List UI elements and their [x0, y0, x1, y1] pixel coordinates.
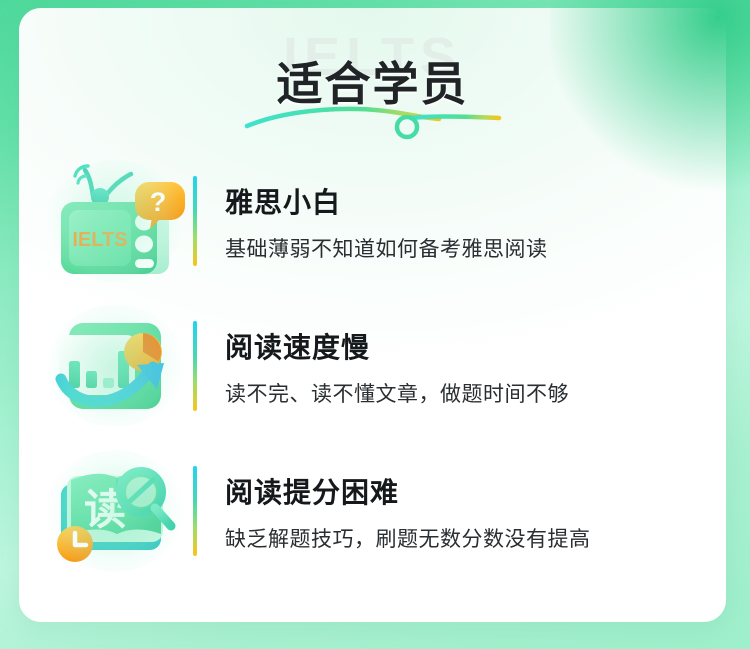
- swoosh-loop-underline-icon: [243, 104, 503, 148]
- row-divider: [193, 466, 197, 556]
- bar-chart-board-arrow-icon: [45, 305, 185, 427]
- list-item: IELTS ? 雅思小白 基础薄弱不知道如何备考雅思阅读: [19, 148, 726, 293]
- list-item-heading: 阅读提分困难: [225, 471, 726, 511]
- list-item-text: 阅读提分困难 缺乏解题技巧，刷题无数分数没有提高: [225, 469, 726, 553]
- list-item: 阅读速度慢 读不完、读不懂文章，做题时间不够: [19, 293, 726, 438]
- list-item-subtitle: 缺乏解题技巧，刷题无数分数没有提高: [225, 523, 726, 553]
- row-divider: [193, 321, 197, 411]
- page-background: IELTS 适合学员: [0, 0, 750, 649]
- icon-glow: [45, 305, 185, 427]
- feature-list: IELTS ? 雅思小白 基础薄弱不知道如何备考雅思阅读: [19, 148, 726, 583]
- page-header: IELTS 适合学员: [19, 8, 726, 148]
- list-item: 读 阅读提分困难 缺乏解题技巧，刷题无数分数没有提高: [19, 438, 726, 583]
- book-magnifier-clock-icon: 读: [45, 450, 185, 572]
- list-item-text: 阅读速度慢 读不完、读不懂文章，做题时间不够: [225, 324, 726, 408]
- list-item-subtitle: 基础薄弱不知道如何备考雅思阅读: [225, 233, 726, 263]
- list-item-heading: 阅读速度慢: [225, 326, 726, 366]
- icon-glow: [45, 450, 185, 572]
- list-item-heading: 雅思小白: [225, 181, 726, 221]
- list-item-subtitle: 读不完、读不懂文章，做题时间不够: [225, 378, 726, 408]
- row-divider: [193, 176, 197, 266]
- list-item-text: 雅思小白 基础薄弱不知道如何备考雅思阅读: [225, 179, 726, 263]
- content-card: IELTS 适合学员: [19, 8, 726, 622]
- icon-glow: [45, 160, 185, 282]
- retro-tv-question-icon: IELTS ?: [45, 160, 185, 282]
